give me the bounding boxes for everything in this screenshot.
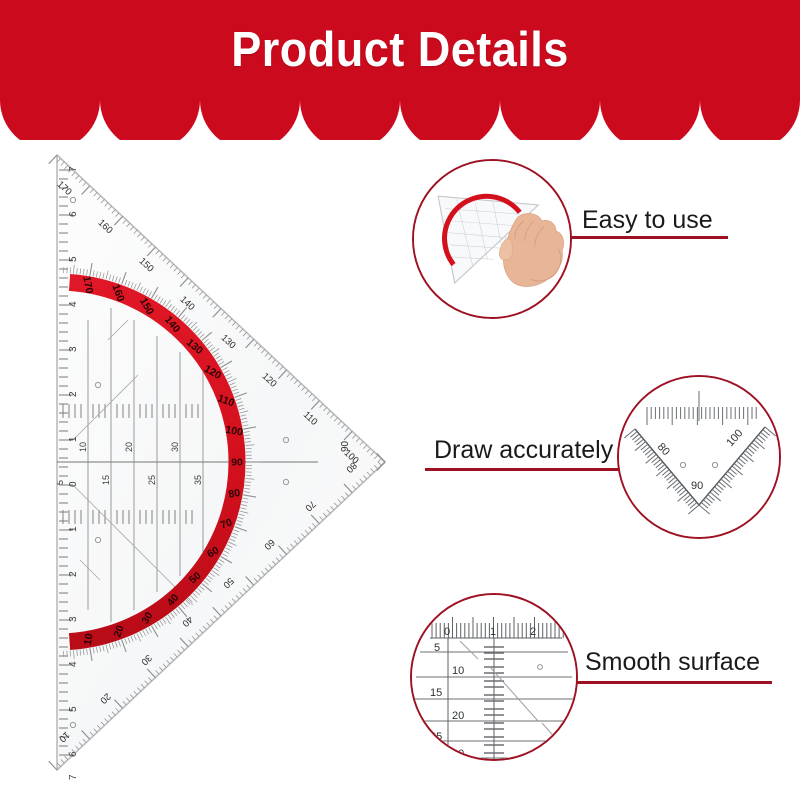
protractor-label-80: 80 [228,487,242,501]
svg-text:4: 4 [68,661,79,667]
svg-text:7: 7 [68,774,79,780]
ruler-apex-zoom: 80 90 100 [619,377,779,537]
surface-top-0: 0 [444,626,450,638]
callout-label-easy-to-use: Easy to use [582,208,713,233]
svg-text:2: 2 [68,571,79,577]
surface-row-30: 30 [452,748,464,759]
svg-text:20: 20 [124,442,134,452]
svg-text:5: 5 [68,706,79,712]
svg-text:3: 3 [68,346,79,352]
callout-label-draw-accurately: Draw accurately [434,438,613,463]
svg-text:35: 35 [193,475,203,485]
apex-degree-label: 90 [340,440,351,452]
protractor-label-90: 90 [231,457,243,469]
svg-text:25: 25 [147,475,157,485]
callout-rule-draw-accurately [425,468,622,471]
apex-tick-90: 90 [691,480,703,492]
header-banner: Product Details [0,0,800,140]
svg-text:2: 2 [68,391,79,397]
surface-top-1: 1 [490,626,496,638]
surface-row-10: 10 [452,665,464,677]
svg-text:4: 4 [68,301,79,307]
ruler-surface-zoom: 0 1 2 5 10 15 20 25 30 [412,595,576,759]
surface-row-5: 5 [434,642,440,654]
surface-top-2: 2 [530,626,536,638]
svg-text:1: 1 [68,526,79,532]
svg-text:30: 30 [170,442,180,452]
protractor-label-10: 10 [82,632,96,646]
product-details-page: Product Details [0,0,800,800]
hand-holding-ruler-photo [414,161,570,317]
surface-row-20: 20 [452,710,464,722]
svg-text:10: 10 [78,442,88,452]
svg-text:5: 5 [68,256,79,262]
callout-circle-smooth-surface: 0 1 2 5 10 15 20 25 30 [410,593,578,761]
svg-text:3: 3 [68,616,79,622]
svg-text:0: 0 [68,481,79,487]
product-image-triangle-ruler: 10 20 30 5 15 25 35 [18,140,418,790]
surface-row-25: 25 [430,731,442,743]
svg-text:1: 1 [68,436,79,442]
callout-label-smooth-surface: Smooth surface [585,650,760,675]
svg-text:15: 15 [101,475,111,485]
page-title: Product Details [32,22,768,78]
callout-circle-easy-to-use [412,159,572,319]
svg-text:6: 6 [68,211,79,217]
surface-row-15: 15 [430,687,442,699]
callout-circle-draw-accurately: 80 90 100 [617,375,781,539]
